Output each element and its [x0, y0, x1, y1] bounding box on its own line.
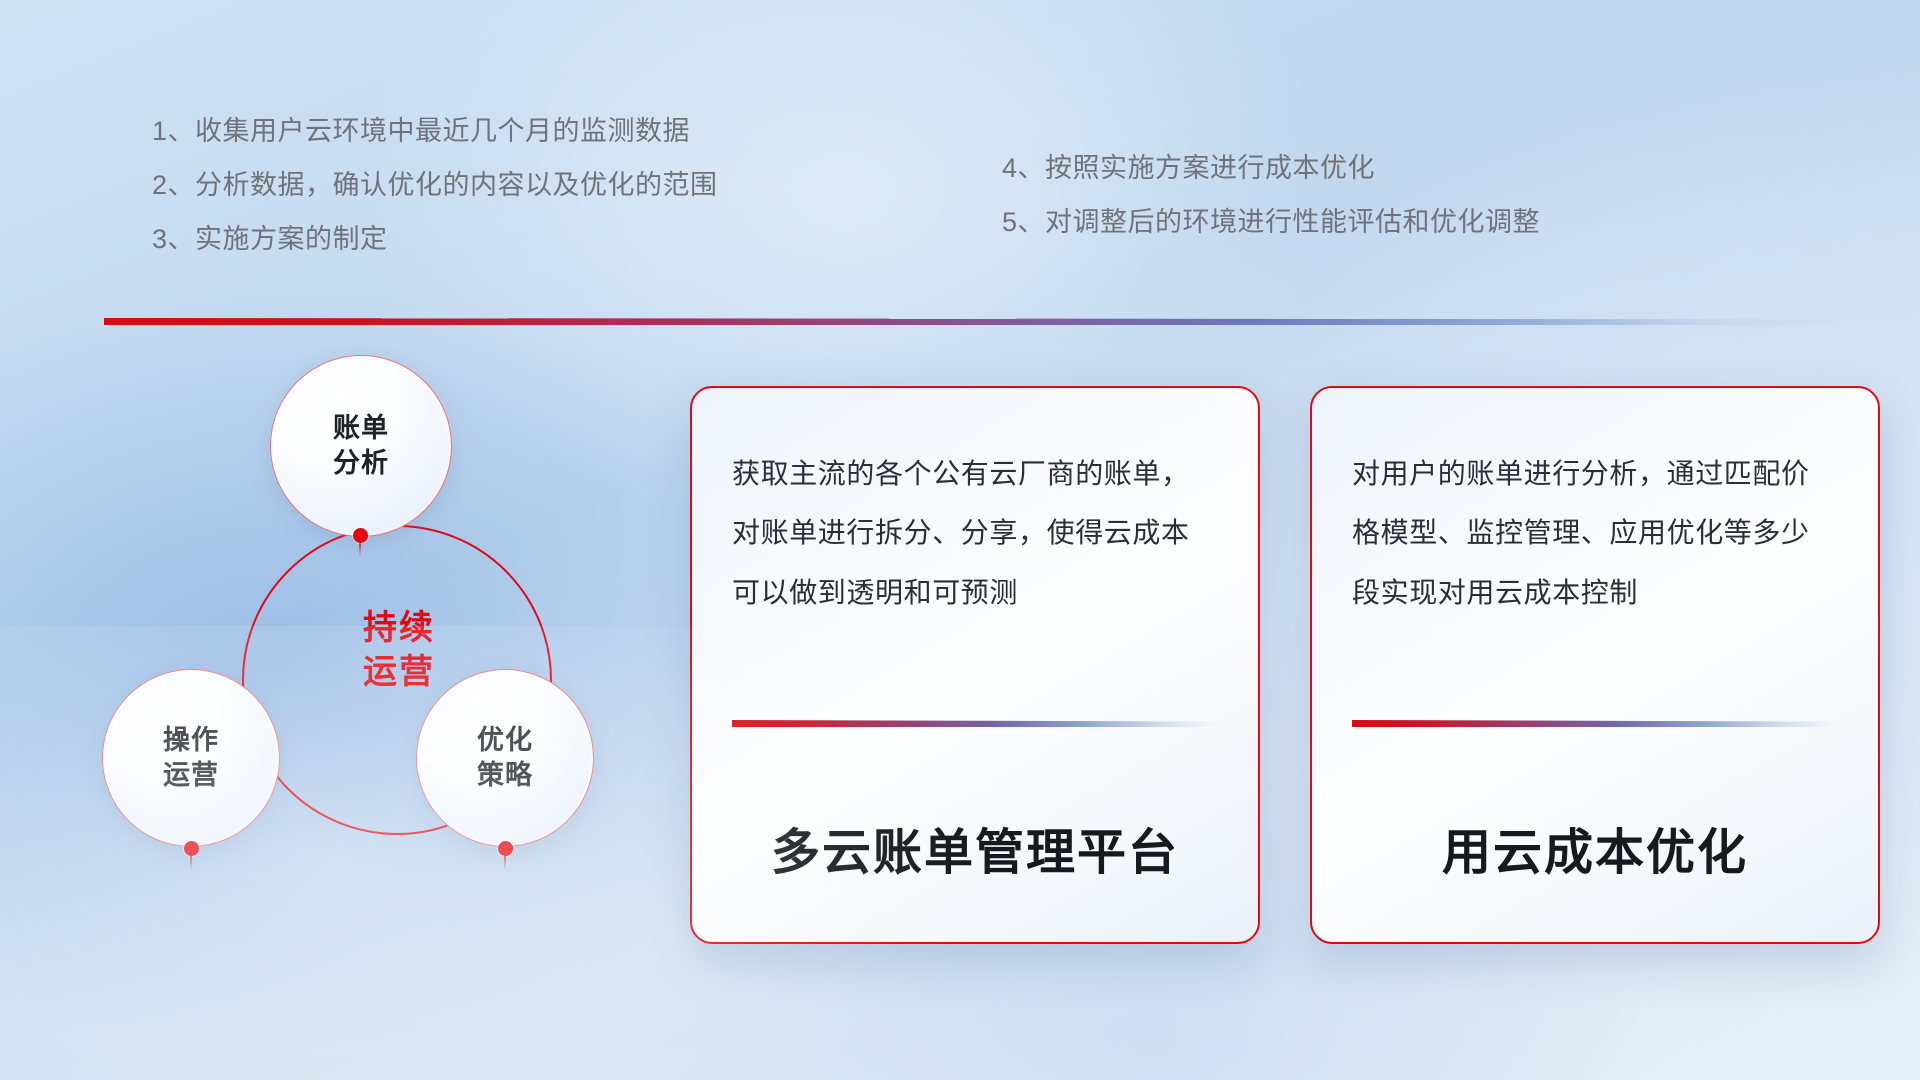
bubble-label-line-2: 分析	[333, 446, 389, 481]
card-divider-rule	[732, 720, 1218, 727]
card-body-text: 对用户的账单进行分析，通过匹配价格模型、监控管理、应用优化等多少段实现对用云成本…	[1352, 444, 1838, 694]
bubble-bill-analysis[interactable]: 账单 分析	[270, 355, 452, 537]
bubble-optimization-strategy[interactable]: 优化 策略	[416, 669, 594, 847]
card-body-text: 获取主流的各个公有云厂商的账单，对账单进行拆分、分享，使得云成本可以做到透明和可…	[732, 444, 1218, 694]
step-item: 4、按照实施方案进行成本优化	[1002, 155, 1540, 182]
bubble-label-line-1: 账单	[333, 411, 389, 446]
card-multicloud-billing-platform[interactable]: 获取主流的各个公有云厂商的账单，对账单进行拆分、分享，使得云成本可以做到透明和可…	[690, 386, 1260, 944]
step-item: 5、对调整后的环境进行性能评估和优化调整	[1002, 209, 1540, 236]
card-divider-rule	[1352, 720, 1838, 727]
node-dot-icon	[184, 841, 199, 856]
steps-list-left: 1、收集用户云环境中最近几个月的监测数据 2、分析数据，确认优化的内容以及优化的…	[152, 118, 718, 280]
node-dot-icon	[498, 841, 513, 856]
bubble-label: 账单 分析	[333, 411, 389, 481]
bubble-label-line-2: 策略	[477, 758, 533, 793]
card-title: 用云成本优化	[1352, 813, 1838, 884]
section-divider-rule	[104, 318, 1846, 325]
steps-list-right: 4、按照实施方案进行成本优化 5、对调整后的环境进行性能评估和优化调整	[1002, 155, 1540, 263]
bubble-label: 操作 运营	[163, 723, 219, 793]
slide-canvas: 1、收集用户云环境中最近几个月的监测数据 2、分析数据，确认优化的内容以及优化的…	[0, 0, 1920, 1080]
card-cloud-cost-optimization[interactable]: 对用户的账单进行分析，通过匹配价格模型、监控管理、应用优化等多少段实现对用云成本…	[1310, 386, 1880, 944]
card-title: 多云账单管理平台	[732, 813, 1218, 884]
continuous-operation-diagram: 持续 运营 账单 分析 操作 运营 优化 策略	[98, 355, 658, 935]
bubble-operation[interactable]: 操作 运营	[102, 669, 280, 847]
bubble-label-line-2: 运营	[163, 758, 219, 793]
bubble-label-line-1: 操作	[163, 723, 219, 758]
bubble-label-line-1: 优化	[477, 723, 533, 758]
bubble-label: 优化 策略	[477, 723, 533, 793]
center-label-line-1: 持续	[299, 607, 499, 651]
step-item: 1、收集用户云环境中最近几个月的监测数据	[152, 118, 718, 145]
node-dot-icon	[353, 528, 368, 543]
step-item: 3、实施方案的制定	[152, 226, 718, 253]
step-item: 2、分析数据，确认优化的内容以及优化的范围	[152, 172, 718, 199]
